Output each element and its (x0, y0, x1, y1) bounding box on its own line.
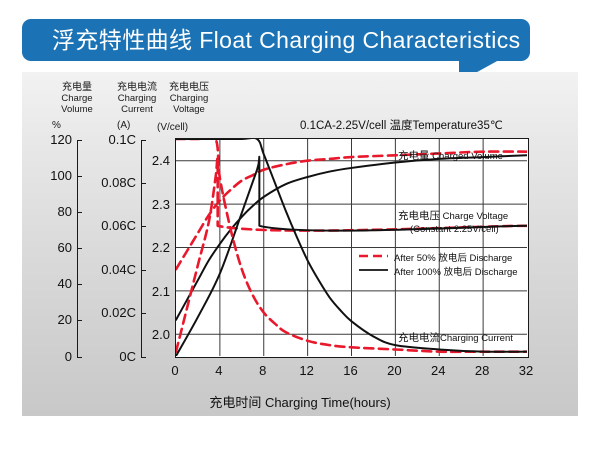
axis-header-en2: Voltage (160, 104, 218, 115)
axis-tick (141, 183, 146, 184)
axis-tick-label-charging-voltage: 2.0 (100, 328, 170, 341)
axis-header-charge-volume: 充电量 Charge Volume (46, 82, 108, 115)
axis-header-en1: Charging (160, 93, 218, 104)
axis-tick (141, 357, 146, 358)
x-tick-label: 0 (155, 364, 195, 377)
axis-tick (77, 248, 82, 249)
axis-tick-label-charging-current: 0.1C (66, 133, 136, 146)
axis-tick-label-charging-current: 0.08C (66, 176, 136, 189)
x-axis-title: 充电时间 Charging Time(hours) (0, 392, 600, 411)
axis-tick-label-charge-volume: 60 (2, 241, 72, 254)
axis-tick-label-charging-current: 0C (66, 350, 136, 363)
x-tick-label: 16 (331, 364, 371, 377)
label-charge-voltage: 充电电压 Charge Voltage (398, 211, 508, 222)
x-tick-label: 4 (199, 364, 239, 377)
x-tick-label: 8 (243, 364, 283, 377)
axis-tick-label-charge-volume: 0 (2, 350, 72, 363)
axis-header-charging-voltage: 充电电压 Charging Voltage (160, 82, 218, 115)
axis-tick-label-charging-current: 0.06C (66, 219, 136, 232)
title-banner-body: 浮充特性曲线 Float Charging Characteristics (22, 19, 530, 61)
axis-tick (141, 270, 146, 271)
axis-tick-label-charge-volume: 20 (2, 313, 72, 326)
axis-tick-label-charging-voltage: 2.4 (100, 154, 170, 167)
axis-unit-percent: % (52, 120, 61, 131)
axis-header-cn: 充电电压 (160, 82, 218, 93)
x-tick-label: 20 (374, 364, 414, 377)
x-tick-label: 32 (506, 364, 546, 377)
x-tick-label: 12 (287, 364, 327, 377)
label-charge-voltage-sub: (Constant 2.25V/cell) (410, 224, 499, 235)
label-charged-volume: 充电量 Charged Volume (398, 151, 503, 162)
legend-item-after-100: After 100% 放电后 Discharge (394, 264, 518, 278)
label-charge-voltage-en: Charge Voltage (443, 211, 509, 222)
axis-tick-label-charging-voltage: 2.3 (100, 198, 170, 211)
axis-tick (141, 313, 146, 314)
label-charging-current-cn: 充电电流 (398, 332, 440, 344)
axis-tick-label-charging-voltage: 2.2 (100, 241, 170, 254)
axis-tick (141, 140, 146, 141)
label-charging-current-en: Charging Current (440, 333, 513, 344)
condition-note: 0.1CA-2.25V/cell 温度Temperature35℃ (300, 117, 503, 133)
axis-tick-label-charge-volume: 40 (2, 277, 72, 290)
label-charging-current: 充电电流Charging Current (398, 333, 513, 344)
axis-tick (77, 320, 82, 321)
axis-tick (141, 226, 146, 227)
axis-header-en1: Charge (46, 93, 108, 104)
page-title: 浮充特性曲线 Float Charging Characteristics (22, 29, 521, 52)
axis-tick (77, 284, 82, 285)
x-tick-label: 24 (418, 364, 458, 377)
axis-tick (77, 212, 82, 213)
legend-item-after-50: After 50% 放电后 Discharge (394, 250, 512, 264)
label-charged-volume-en: Charged Volume (432, 151, 503, 162)
plot-canvas (176, 139, 527, 356)
x-tick-label: 28 (462, 364, 502, 377)
label-charged-volume-cn: 充电量 (398, 150, 430, 162)
axis-tick-label-charge-volume: 100 (2, 169, 72, 182)
axis-tick-label-charge-volume: 120 (2, 133, 72, 146)
page-root: 浮充特性曲线 Float Charging Characteristics 充电… (0, 0, 600, 451)
axis-tick-label-charging-current: 0.04C (66, 263, 136, 276)
axis-header-cn: 充电量 (46, 82, 108, 93)
label-charge-voltage-cn: 充电电压 (398, 210, 440, 222)
axis-tick-label-charging-current: 0.02C (66, 306, 136, 319)
axis-unit-ampere: (A) (117, 120, 130, 131)
plot-area: 充电量 Charged Volume 充电电压 Charge Voltage (… (175, 138, 529, 358)
axis-header-en2: Volume (46, 104, 108, 115)
axis-tick-label-charging-voltage: 2.1 (100, 285, 170, 298)
axis-unit-volt-per-cell: (V/cell) (157, 122, 188, 133)
title-banner: 浮充特性曲线 Float Charging Characteristics (22, 19, 530, 61)
axis-tick-label-charge-volume: 80 (2, 205, 72, 218)
